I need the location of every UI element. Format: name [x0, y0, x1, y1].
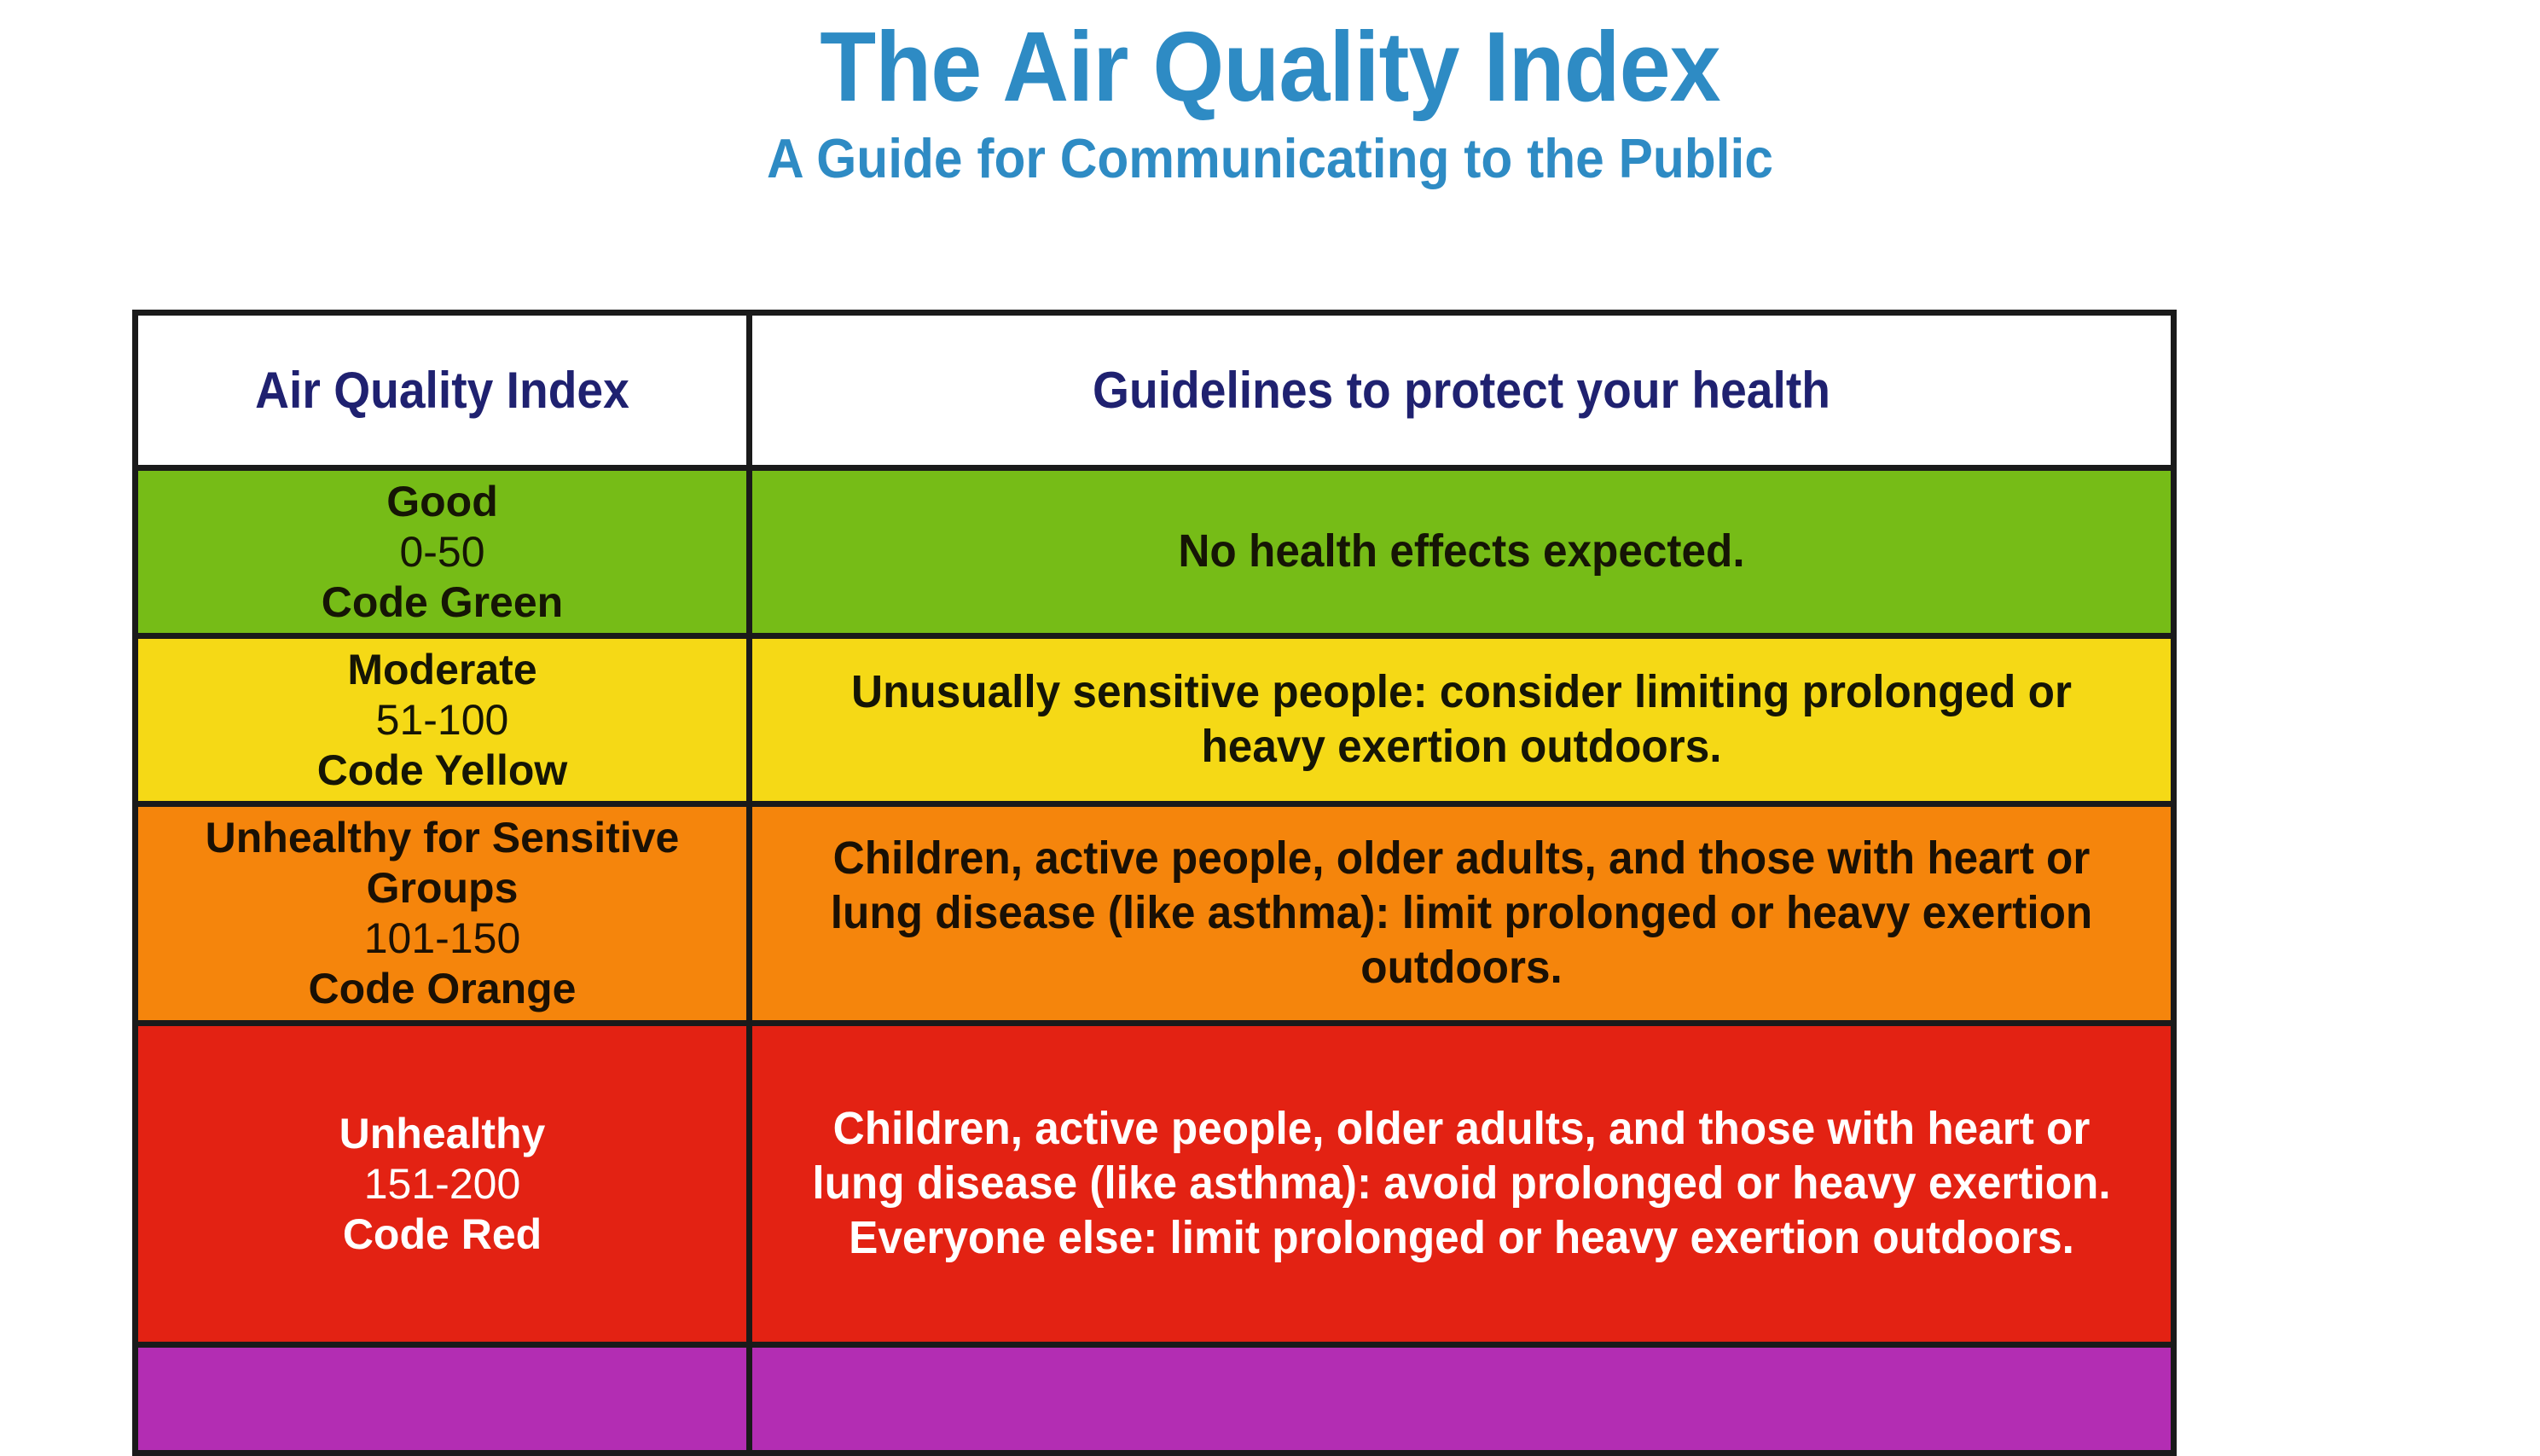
aqi-guideline-cell-good: No health effects expected.	[750, 468, 2174, 636]
table-row: Unhealthy 151-200 Code Red Children, act…	[136, 1024, 2174, 1345]
table-header-row: Air Quality Index Guidelines to protect …	[136, 313, 2174, 468]
aqi-guideline-text: Unusually sensitive people: consider lim…	[788, 665, 2136, 774]
aqi-guideline-text: Children, active people, older adults, a…	[788, 1102, 2136, 1265]
aqi-category-cell-good: Good 0-50 Code Green	[136, 468, 750, 636]
aqi-category-range: 0-50	[138, 527, 746, 577]
aqi-category-code: Code Red	[138, 1209, 746, 1260]
title-block: The Air Quality Index A Guide for Commun…	[0, 15, 2540, 189]
aqi-category-range: 101-150	[138, 914, 746, 964]
page-title: The Air Quality Index	[89, 15, 2451, 119]
aqi-category-cell-unhealthy: Unhealthy 151-200 Code Red	[136, 1024, 750, 1345]
aqi-guideline-cell-very-unhealthy	[750, 1345, 2174, 1453]
aqi-guideline-cell-unhealthy: Children, active people, older adults, a…	[750, 1024, 2174, 1345]
aqi-category-code: Code Yellow	[138, 745, 746, 796]
column-header-air-quality-index: Air Quality Index	[136, 313, 750, 468]
table-row: Unhealthy for Sensitive Groups 101-150 C…	[136, 804, 2174, 1024]
table-row: Good 0-50 Code Green No health effects e…	[136, 468, 2174, 636]
aqi-category-cell-very-unhealthy	[136, 1345, 750, 1453]
aqi-guideline-text: Children, active people, older adults, a…	[788, 832, 2136, 995]
aqi-category-name: Good	[138, 477, 746, 527]
aqi-category-name: Moderate	[138, 645, 746, 695]
aqi-guideline-cell-unhealthy-sensitive-groups: Children, active people, older adults, a…	[750, 804, 2174, 1024]
column-header-guidelines: Guidelines to protect your health	[750, 313, 2174, 468]
aqi-category-cell-moderate: Moderate 51-100 Code Yellow	[136, 636, 750, 804]
aqi-category-name: Unhealthy for Sensitive Groups	[138, 813, 746, 914]
aqi-guideline-cell-moderate: Unusually sensitive people: consider lim…	[750, 636, 2174, 804]
aqi-table: Air Quality Index Guidelines to protect …	[132, 310, 2177, 1456]
aqi-category-range: 51-100	[138, 695, 746, 745]
table-row: Moderate 51-100 Code Yellow Unusually se…	[136, 636, 2174, 804]
page-subtitle: A Guide for Communicating to the Public	[89, 128, 2451, 189]
aqi-guideline-text: No health effects expected.	[788, 525, 2136, 579]
aqi-category-range: 151-200	[138, 1159, 746, 1209]
aqi-category-name: Unhealthy	[138, 1109, 746, 1159]
column-header-air-quality-index-label: Air Quality Index	[163, 361, 722, 420]
aqi-category-code: Code Orange	[138, 964, 746, 1014]
table-row-partial	[136, 1345, 2174, 1453]
aqi-poster: The Air Quality Index A Guide for Commun…	[0, 0, 2540, 1436]
aqi-category-cell-unhealthy-sensitive-groups: Unhealthy for Sensitive Groups 101-150 C…	[136, 804, 750, 1024]
column-header-guidelines-label: Guidelines to protect your health	[809, 361, 2114, 420]
aqi-category-code: Code Green	[138, 577, 746, 628]
